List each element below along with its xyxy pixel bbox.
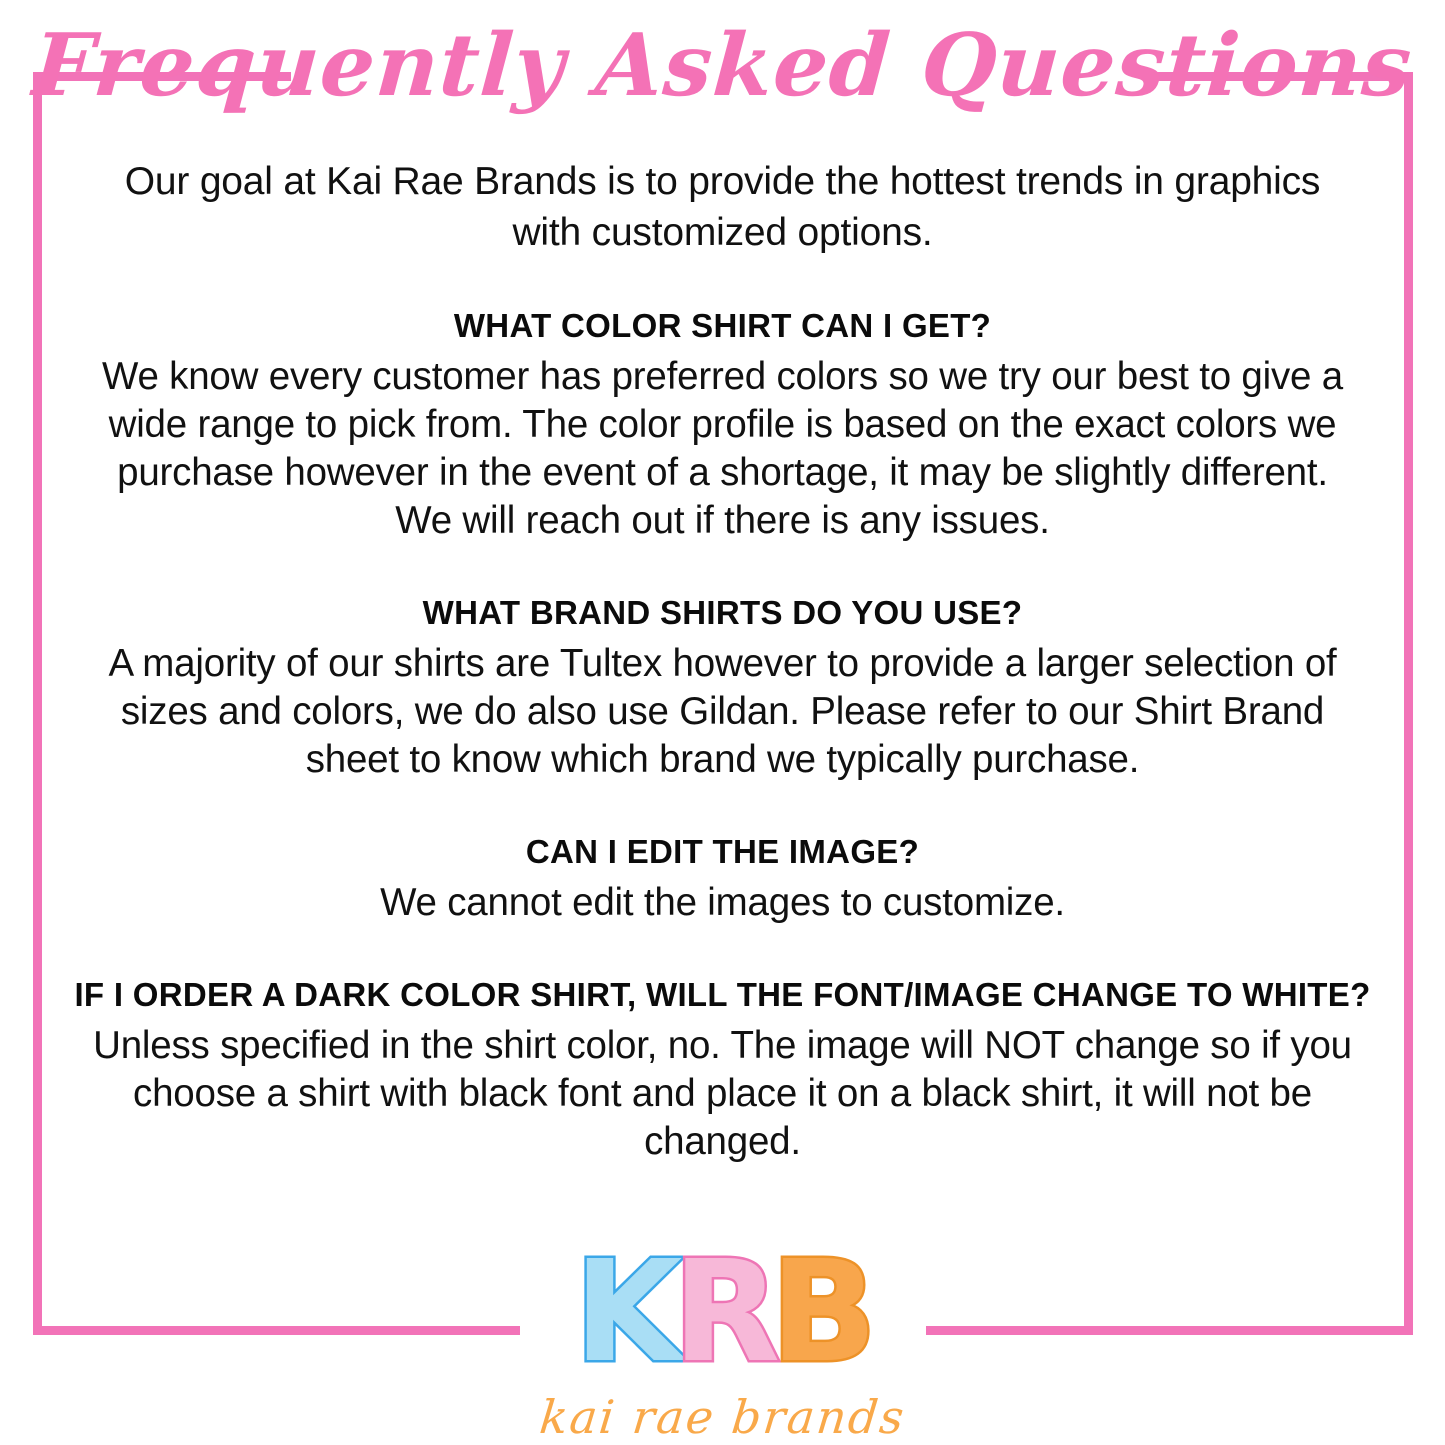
logo-tagline: kai rae brands <box>537 1389 908 1445</box>
page-title: Frequently Asked Questions <box>0 14 1445 118</box>
logo-letter-r: R <box>672 1243 774 1383</box>
intro-paragraph: Our goal at Kai Rae Brands is to provide… <box>95 156 1350 258</box>
faq-answer-3: We cannot edit the images to customize. <box>95 879 1350 927</box>
frame-left-bar <box>33 72 42 1335</box>
faq-page: Frequently Asked Questions Our goal at K… <box>0 0 1445 1445</box>
faq-answer-2: A majority of our shirts are Tultex howe… <box>95 640 1350 784</box>
faq-question-1: WHAT COLOR SHIRT CAN I GET? <box>95 304 1350 348</box>
faq-answer-4: Unless specified in the shirt color, no.… <box>75 1022 1370 1166</box>
faq-item-2: WHAT BRAND SHIRTS DO YOU USE? A majority… <box>95 591 1350 784</box>
logo-letter-k: K <box>574 1243 677 1383</box>
faq-answer-1: We know every customer has preferred col… <box>95 353 1350 545</box>
faq-item-1: WHAT COLOR SHIRT CAN I GET? We know ever… <box>95 304 1350 545</box>
frame-right-bar <box>1404 72 1413 1335</box>
faq-question-2: WHAT BRAND SHIRTS DO YOU USE? <box>95 591 1350 635</box>
faq-content: Our goal at Kai Rae Brands is to provide… <box>95 156 1350 1166</box>
brand-logo: KRB kai rae brands <box>0 1243 1445 1445</box>
faq-item-4: IF I ORDER A DARK COLOR SHIRT, WILL THE … <box>95 973 1350 1166</box>
logo-letter-b: B <box>770 1243 871 1383</box>
krb-lettermark: KRB <box>574 1243 871 1383</box>
faq-item-3: CAN I EDIT THE IMAGE? We cannot edit the… <box>95 830 1350 927</box>
faq-question-4: IF I ORDER A DARK COLOR SHIRT, WILL THE … <box>73 973 1372 1017</box>
faq-question-3: CAN I EDIT THE IMAGE? <box>95 830 1350 874</box>
